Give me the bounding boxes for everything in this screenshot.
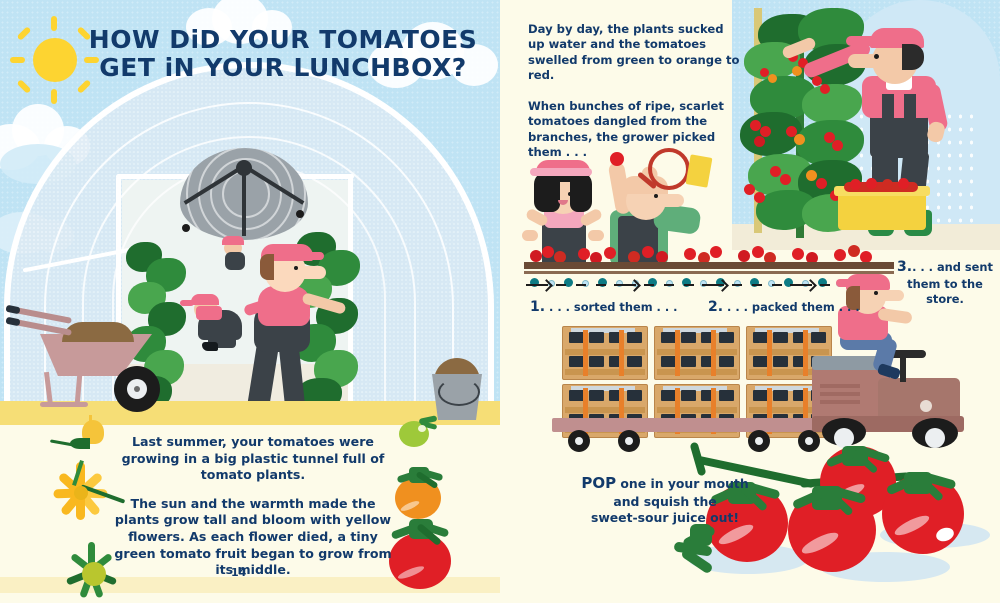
- tomatoes-on-belt: [524, 242, 896, 264]
- right-paragraph: When bunches of ripe, scarlet tomatoes d…: [528, 99, 743, 160]
- step-number: 3.: [897, 259, 912, 275]
- crate: [654, 326, 740, 380]
- left-paragraph: The sun and the warmth made the plants g…: [108, 496, 398, 579]
- step-number: 1.: [530, 299, 545, 315]
- page-title: HOW DiD YOUR TOMATOES GET iN YOUR LUNCHB…: [88, 26, 478, 82]
- trolley-caster: [618, 430, 640, 452]
- left-page: HOW DiD YOUR TOMATOES GET iN YOUR LUNCHB…: [0, 0, 500, 603]
- step-number: 2.: [708, 299, 723, 315]
- pop-line-3: sweet-sour juice out!: [550, 510, 780, 526]
- left-body-text: Last summer, your tomatoes were growing …: [108, 434, 398, 591]
- book-spread: HOW DiD YOUR TOMATOES GET iN YOUR LUNCHB…: [0, 0, 1000, 603]
- yellow-harvest-crate: [838, 182, 926, 230]
- title-line-2: GET iN YOUR LUNCHBOX?: [88, 54, 478, 82]
- step-text: . . . packed them . . .: [727, 300, 860, 314]
- page-number: 14: [231, 566, 246, 581]
- pop-line-2: and squish the: [550, 494, 780, 510]
- step-text: . . . sorted them . . .: [549, 300, 677, 314]
- right-paragraph: Day by day, the plants sucked up water a…: [528, 22, 743, 83]
- title-line-1-light: HOW DiD YOUR: [89, 25, 319, 54]
- left-paragraph: Last summer, your tomatoes were growing …: [108, 434, 398, 484]
- step-caption-3: 3.. . . and sent them to the store.: [892, 258, 998, 307]
- title-line-1-emphasis: TOMATOES: [319, 25, 477, 54]
- step-caption-1: 1. . . . sorted them . . .: [530, 298, 677, 316]
- extractor-fan-icon: [180, 148, 308, 240]
- crate: [562, 326, 648, 380]
- trolley-caster: [568, 430, 590, 452]
- step-caption-2: 2. . . . packed them . . .: [708, 298, 860, 316]
- pop-text: POP one in your mouth and squish the swe…: [550, 474, 780, 527]
- trolley-deck: [552, 418, 842, 432]
- step-text: . . . and sent them to the store.: [907, 260, 993, 306]
- pop-rest: one in your mouth: [616, 476, 749, 491]
- pop-emphasis: POP: [581, 474, 616, 492]
- right-page: 1. . . . sorted them . . . 2. . . . pack…: [500, 0, 1000, 603]
- right-body-text: Day by day, the plants sucked up water a…: [528, 22, 743, 176]
